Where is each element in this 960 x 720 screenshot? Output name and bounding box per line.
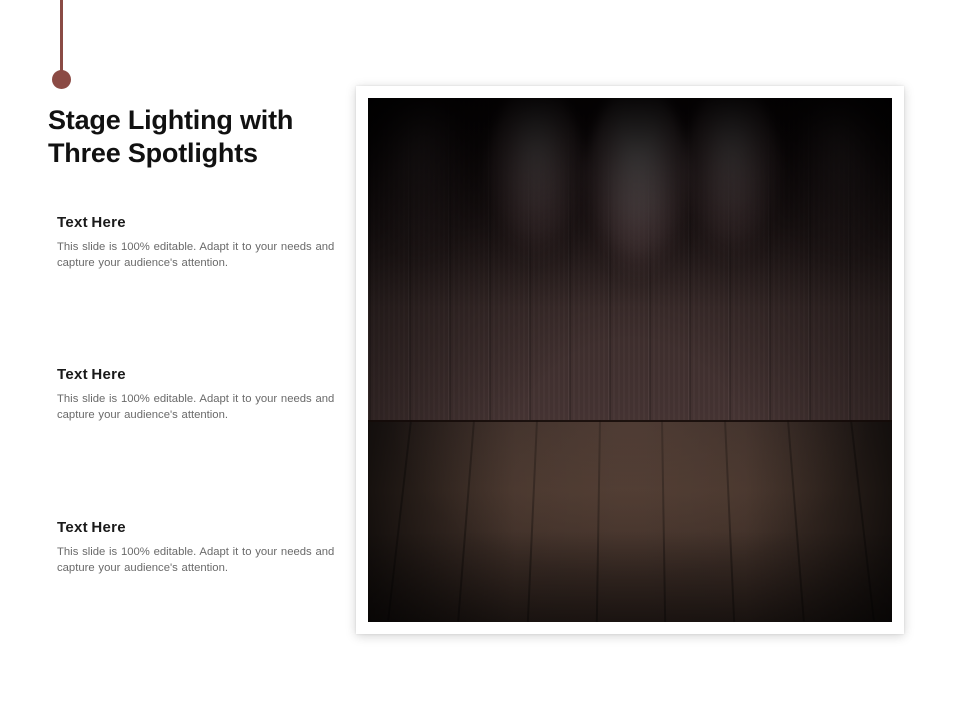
text-block-3: Text Here This slide is 100% editable. A… xyxy=(57,519,337,576)
text-block-3-body: This slide is 100% editable. Adapt it to… xyxy=(57,545,337,576)
text-block-2-heading: Text Here xyxy=(57,366,337,383)
text-block-3-heading: Text Here xyxy=(57,519,337,536)
wall-floor-junction xyxy=(368,420,892,422)
text-block-1: Text Here This slide is 100% editable. A… xyxy=(57,214,337,271)
floor-bottom-shadow xyxy=(368,531,892,622)
text-block-2: Text Here This slide is 100% editable. A… xyxy=(57,366,337,423)
pin-dot-icon xyxy=(52,70,71,89)
stage-floor xyxy=(368,420,892,622)
stage-photo xyxy=(368,98,892,622)
text-block-1-body: This slide is 100% editable. Adapt it to… xyxy=(57,240,337,271)
pin-line-icon xyxy=(60,0,63,78)
photo-frame xyxy=(356,86,904,634)
text-block-2-body: This slide is 100% editable. Adapt it to… xyxy=(57,392,337,423)
slide-canvas: Stage Lighting with Three Spotlights Tex… xyxy=(0,0,960,720)
page-title: Stage Lighting with Three Spotlights xyxy=(48,104,358,170)
text-block-1-heading: Text Here xyxy=(57,214,337,231)
